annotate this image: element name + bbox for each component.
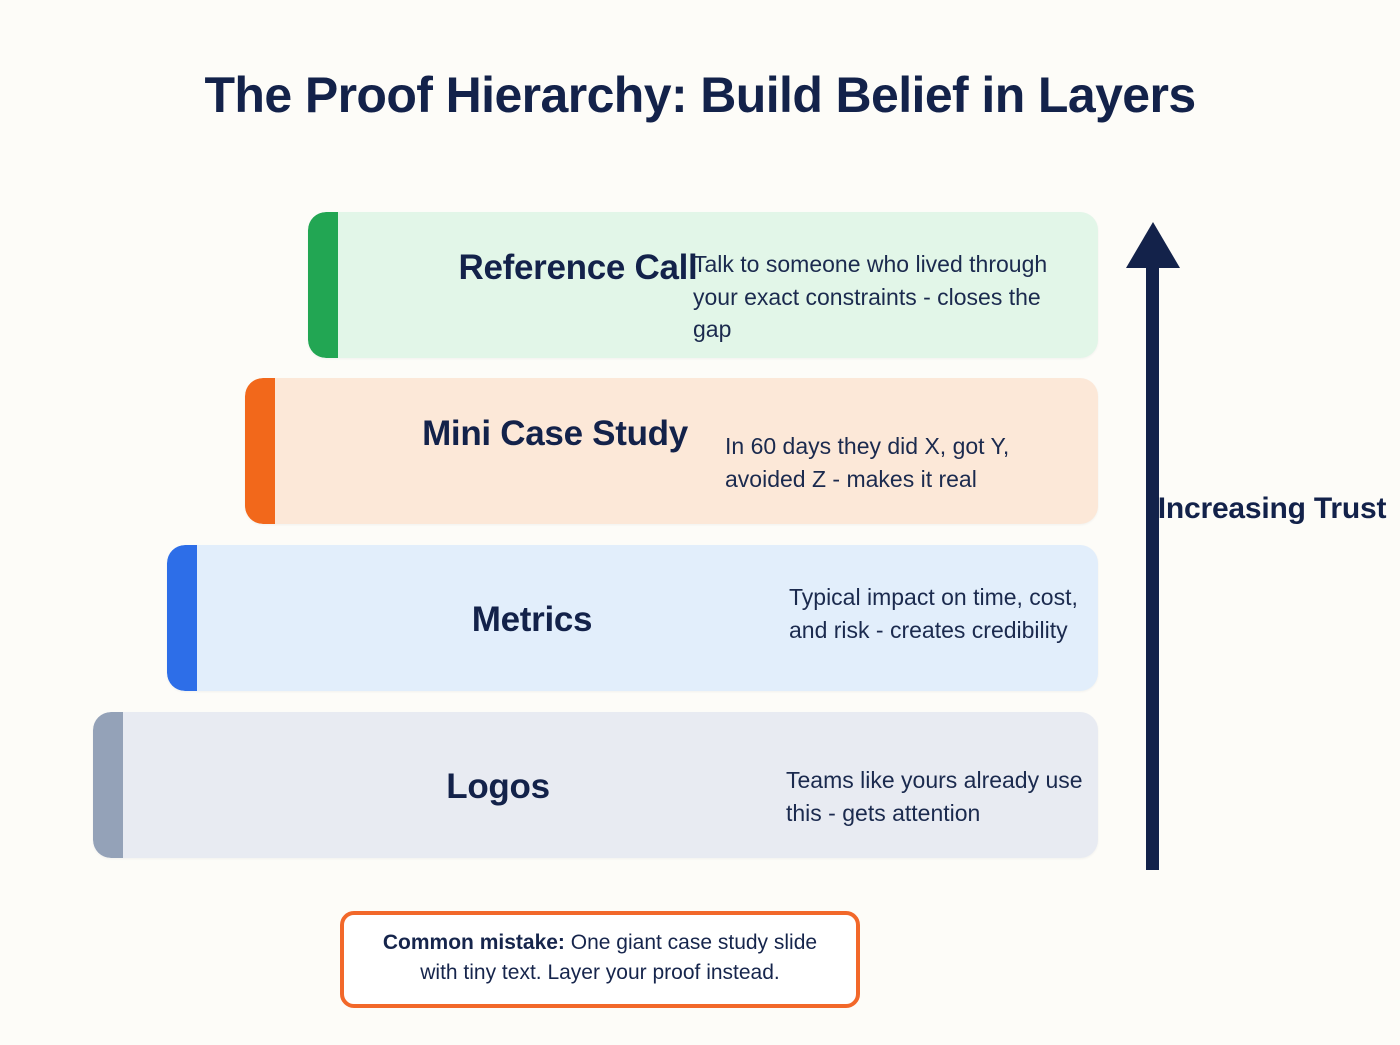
layer-description-mini-case-study: In 60 days they did X, got Y, avoided Z … [725,430,1075,495]
increasing-trust-arrow-icon [1122,222,1184,870]
layer-accent-bar-reference-call [308,212,338,358]
infographic-canvas: The Proof Hierarchy: Build Belief in Lay… [0,0,1400,1045]
common-mistake-prefix: Common mistake: [383,931,565,954]
layer-accent-bar-logos [93,712,123,858]
hierarchy-layer-logos[interactable]: Logos Teams like yours already use this … [93,712,1098,858]
layer-accent-bar-metrics [167,545,197,691]
layer-description-metrics: Typical impact on time, cost, and risk -… [789,581,1089,646]
layer-accent-bar-mini-case-study [245,378,275,524]
hierarchy-layer-mini-case-study[interactable]: Mini Case Study In 60 days they did X, g… [245,378,1098,524]
layer-description-reference-call: Talk to someone who lived through your e… [693,248,1083,346]
proof-hierarchy-stack: Reference Call Talk to someone who lived… [0,212,1400,872]
hierarchy-layer-metrics[interactable]: Metrics Typical impact on time, cost, an… [167,545,1098,691]
layer-label-metrics: Metrics [367,598,697,642]
layer-body-metrics: Metrics Typical impact on time, cost, an… [197,545,1098,691]
layer-body-mini-case-study: Mini Case Study In 60 days they did X, g… [275,378,1098,524]
hierarchy-layer-reference-call[interactable]: Reference Call Talk to someone who lived… [308,212,1098,358]
layer-body-logos: Logos Teams like yours already use this … [123,712,1098,858]
layer-description-logos: Teams like yours already use this - gets… [786,764,1086,829]
layer-body-reference-call: Reference Call Talk to someone who lived… [338,212,1098,358]
layer-label-logos: Logos [333,765,663,809]
layer-label-mini-case-study: Mini Case Study [390,412,720,456]
common-mistake-callout: Common mistake: One giant case study sli… [340,911,860,1008]
increasing-trust-label: Increasing Trust [1152,490,1392,528]
page-title: The Proof Hierarchy: Build Belief in Lay… [0,68,1400,123]
